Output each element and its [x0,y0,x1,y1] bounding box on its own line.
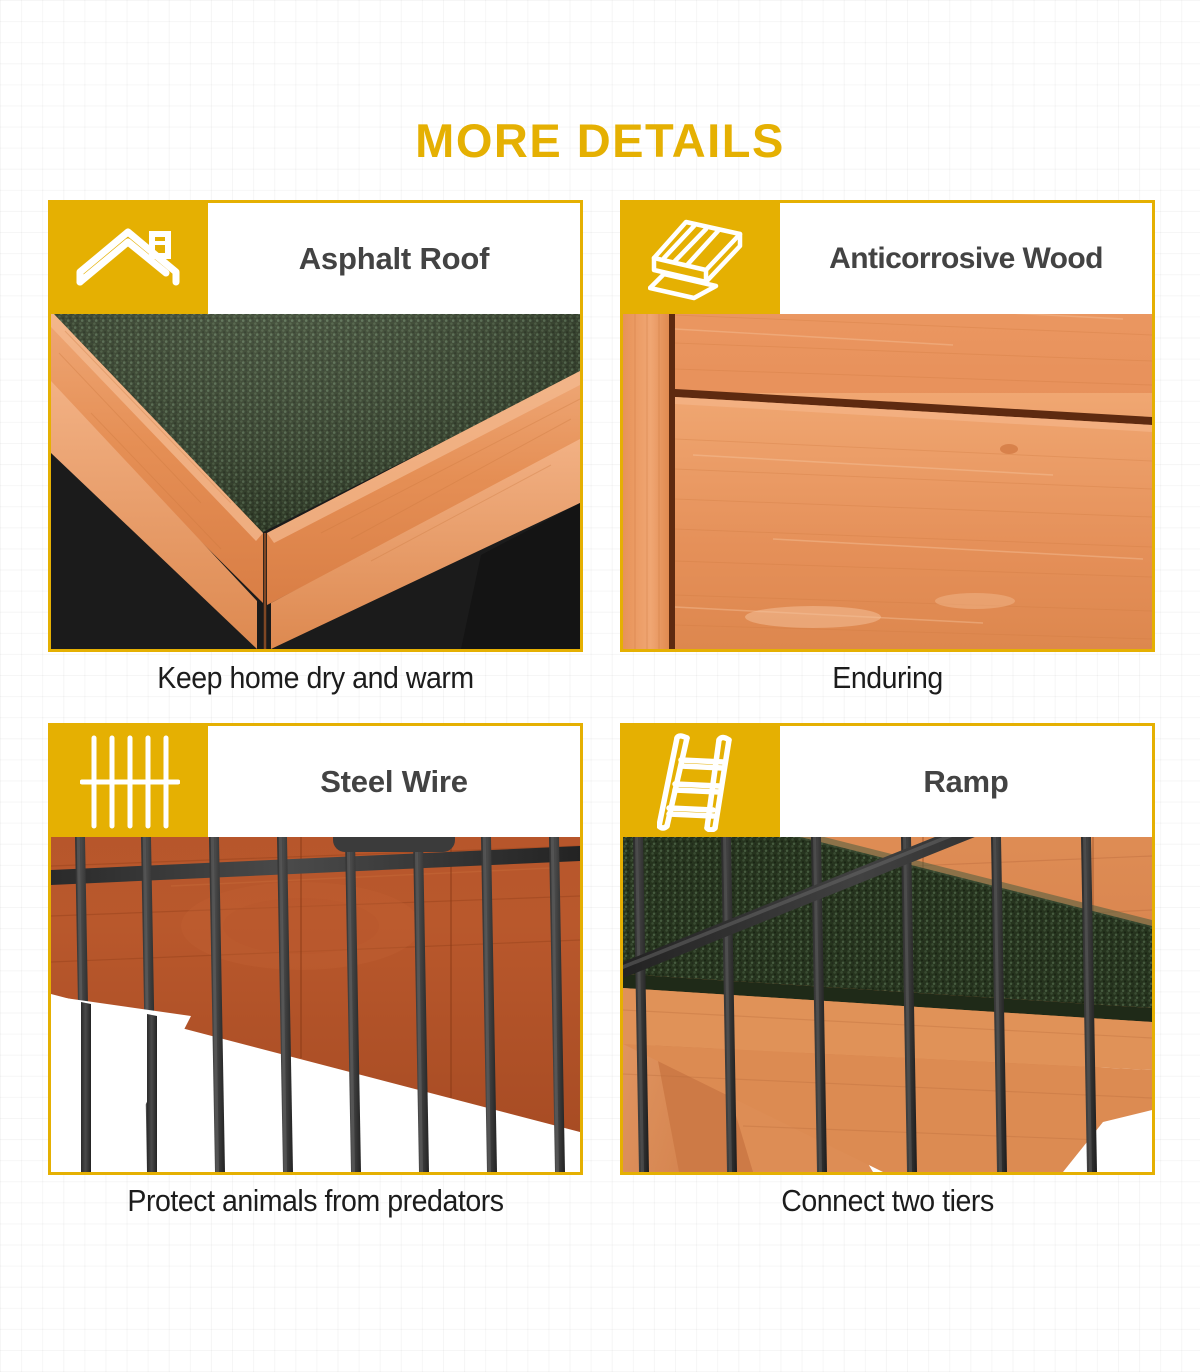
card-header-anticorrosive-wood: Anticorrosive Wood [623,203,1152,314]
page-title: MORE DETAILS [0,113,1200,168]
card-caption-anticorrosive-wood: Enduring [641,660,1133,696]
card-label-steel-wire: Steel Wire [208,726,580,837]
detail-card-anticorrosive-wood: Anticorrosive Wood [620,200,1155,652]
detail-card-ramp: Ramp [620,723,1155,1175]
card-caption-ramp: Connect two tiers [641,1183,1133,1219]
card-cell-steel-wire: Steel Wire Protect animals from predator… [48,723,583,1219]
detail-card-asphalt-roof: Asphalt Roof [48,200,583,652]
card-label-asphalt-roof: Asphalt Roof [208,203,580,314]
roof-icon [51,203,208,314]
card-caption-steel-wire: Protect animals from predators [69,1183,561,1219]
card-label-ramp: Ramp [780,726,1152,837]
card-caption-asphalt-roof: Keep home dry and warm [69,660,561,696]
card-cell-asphalt-roof: Asphalt Roof Keep home dry and warm [48,200,583,696]
card-cell-ramp: Ramp Connect two tiers [620,723,1155,1219]
card-header-ramp: Ramp [623,726,1152,837]
details-card-grid: Asphalt Roof Keep home dry and warm [48,200,1155,1219]
card-label-anticorrosive-wood: Anticorrosive Wood [780,203,1152,314]
wood-planks-icon [623,203,780,314]
detail-card-steel-wire: Steel Wire [48,723,583,1175]
ladder-icon [623,726,780,837]
wire-fence-icon [51,726,208,837]
card-cell-anticorrosive-wood: Anticorrosive Wood Enduring [620,200,1155,696]
card-header-asphalt-roof: Asphalt Roof [51,203,580,314]
card-header-steel-wire: Steel Wire [51,726,580,837]
